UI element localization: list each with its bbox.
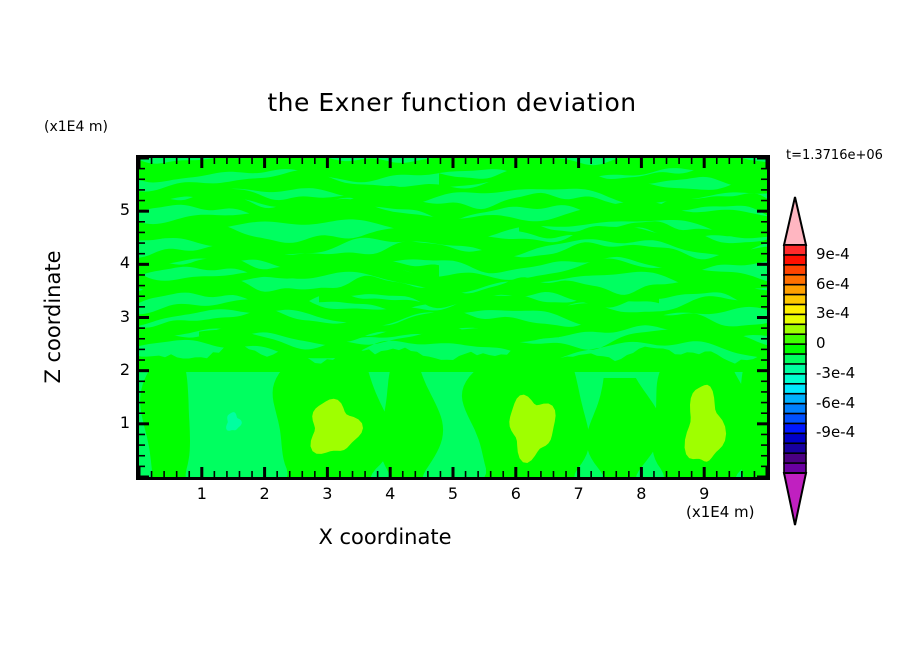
y-tick-label: 3 (110, 307, 130, 326)
x-tick-label: 8 (631, 484, 651, 503)
colorbar-labels: 9e-46e-43e-40-3e-4-6e-4-9e-4 (770, 195, 900, 585)
y-tick-label: 4 (110, 253, 130, 272)
colorbar-tick-label: 3e-4 (816, 304, 850, 322)
y-tick-label: 2 (110, 360, 130, 379)
colorbar-tick-label: -9e-4 (816, 423, 855, 441)
colorbar-tick-label: 6e-4 (816, 275, 850, 293)
y-tick-label: 5 (110, 200, 130, 219)
axis-tick-labels: 12345678912345 (0, 0, 904, 654)
colorbar-tick-label: -6e-4 (816, 394, 855, 412)
figure-root: the Exner function deviation (x1E4 m) t=… (0, 0, 904, 654)
colorbar-tick-label: -3e-4 (816, 364, 855, 382)
x-tick-label: 1 (192, 484, 212, 503)
x-tick-label: 2 (255, 484, 275, 503)
x-tick-label: 3 (317, 484, 337, 503)
x-tick-label: 7 (569, 484, 589, 503)
x-tick-label: 4 (380, 484, 400, 503)
colorbar-tick-label: 9e-4 (816, 245, 850, 263)
x-tick-label: 5 (443, 484, 463, 503)
colorbar-tick-label: 0 (816, 334, 826, 352)
x-tick-label: 6 (506, 484, 526, 503)
y-tick-label: 1 (110, 413, 130, 432)
x-tick-label: 9 (694, 484, 714, 503)
